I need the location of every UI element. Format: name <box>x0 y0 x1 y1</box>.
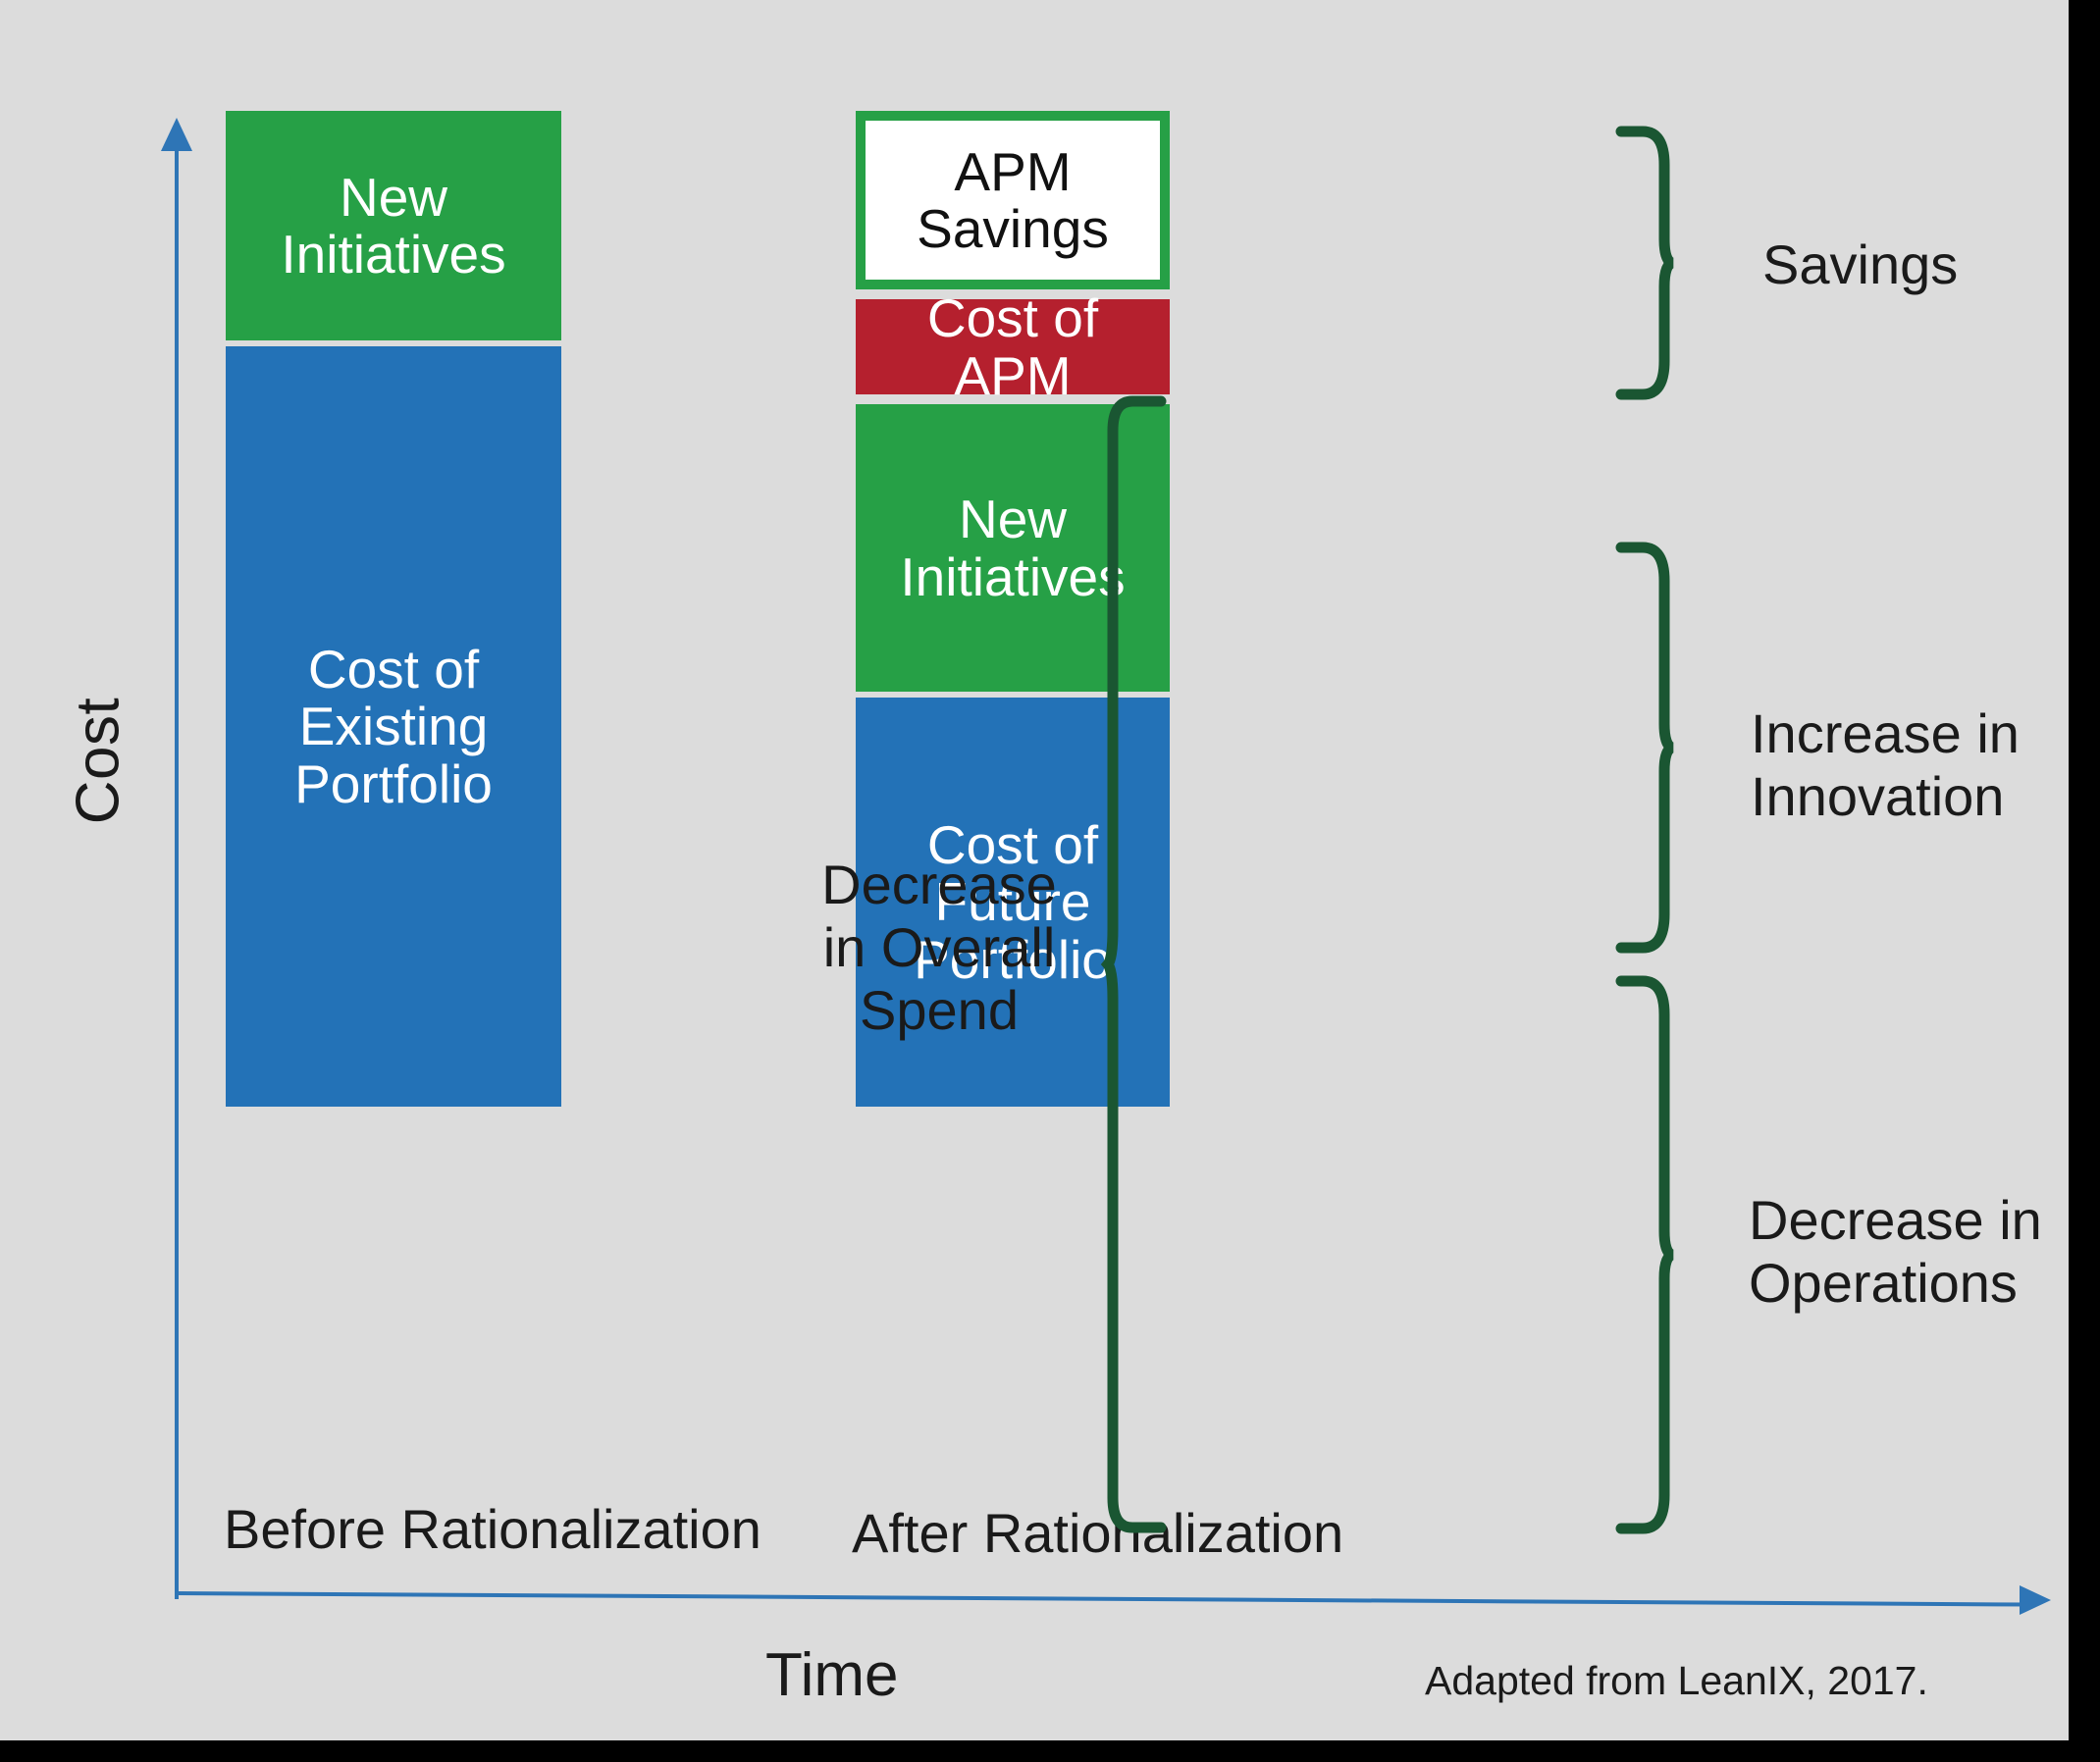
x-axis-title: Time <box>765 1640 898 1710</box>
y-axis-title: Cost <box>64 644 133 879</box>
x-axis-arrow-icon <box>2020 1585 2051 1615</box>
x-axis-line <box>177 1591 2031 1607</box>
brace-decrease-in-operations <box>1619 975 1674 1534</box>
bar-label: APM Savings <box>866 143 1160 258</box>
bar-before-new-initiatives: New Initiatives <box>226 111 561 340</box>
bar-label: Cost of Existing Portfolio <box>226 641 561 812</box>
x-tick-label-before: Before Rationalization <box>224 1497 761 1561</box>
bar-after-apm-savings: APM Savings <box>856 111 1170 289</box>
bar-label: New Initiatives <box>226 169 561 284</box>
x-tick-label-after: After Rationalization <box>852 1501 1343 1565</box>
annotation-decrease-in-overall-spend: Decrease in Overall Spend <box>797 854 1081 1041</box>
brace-savings <box>1619 126 1674 400</box>
annotation-decrease-in-operations: Decrease in Operations <box>1749 1189 2069 1315</box>
brace-increase-in-innovation <box>1619 542 1674 954</box>
screenshot-frame: Cost Time New Initiatives Cost of Existi… <box>0 0 2100 1762</box>
brace-decrease-in-overall-spend <box>1107 395 1166 1533</box>
annotation-increase-in-innovation: Increase in Innovation <box>1751 702 2069 828</box>
y-axis-arrow-icon <box>161 118 192 151</box>
bar-label: Cost of APM <box>856 289 1170 404</box>
annotation-savings: Savings <box>1762 233 2067 296</box>
bar-before-cost-of-existing-portfolio: Cost of Existing Portfolio <box>226 346 561 1107</box>
bar-after-cost-of-apm: Cost of APM <box>856 299 1170 394</box>
chart-canvas: Cost Time New Initiatives Cost of Existi… <box>0 0 2069 1740</box>
y-axis-line <box>175 142 179 1599</box>
source-credit: Adapted from LeanIX, 2017. <box>1425 1658 1928 1704</box>
